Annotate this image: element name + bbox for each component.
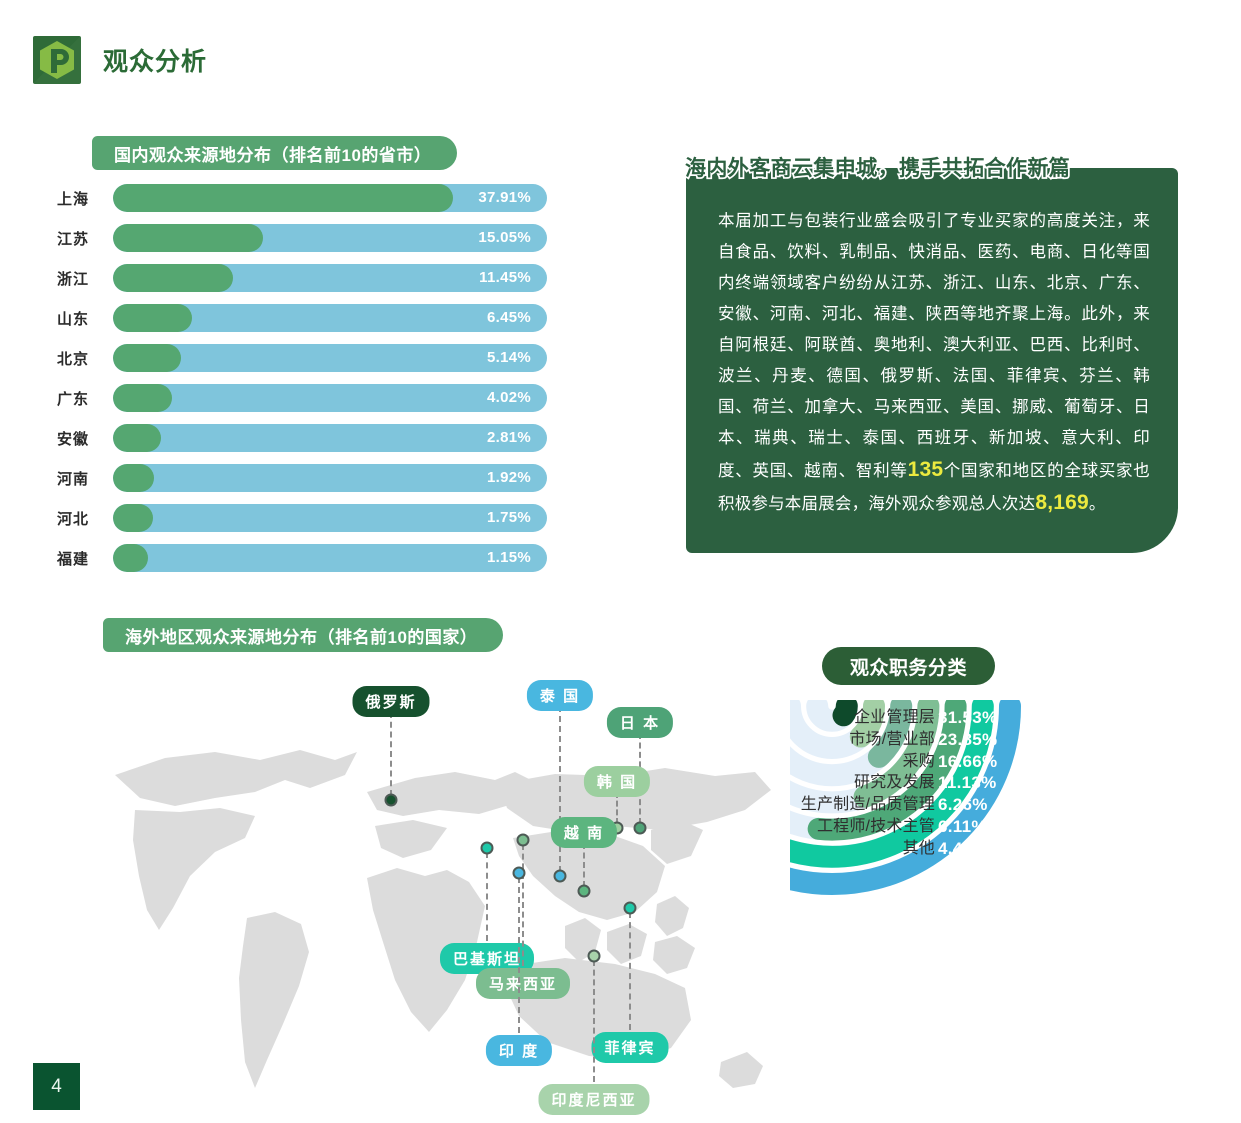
- bar-row-label: 浙江: [57, 268, 113, 289]
- bar-track: 4.02%: [113, 384, 547, 412]
- map-country-label[interactable]: 马来西亚: [476, 968, 570, 999]
- highlight-visitors: 8,169: [1035, 491, 1089, 514]
- jobs-section-header: 观众职务分类: [822, 647, 995, 685]
- map-marker-dot[interactable]: [554, 870, 567, 883]
- bar-track: 2.81%: [113, 424, 547, 452]
- jobs-item-value: 16.66%: [938, 751, 997, 773]
- jobs-item-label: 研究及发展: [760, 772, 935, 794]
- bar-fill: [113, 224, 263, 252]
- world-map: 俄罗斯泰 国日 本韩 国越 南巴基斯坦马来西亚印 度菲律宾印度尼西亚: [95, 680, 795, 1110]
- overseas-section-title: 海外地区观众来源地分布（排名前10的国家）: [103, 618, 503, 652]
- bar-fill: [113, 504, 153, 532]
- infographic-page: 观众分析 国内观众来源地分布（排名前10的省市） 上海37.91%江苏15.05…: [0, 0, 1241, 1123]
- bar-fill: [113, 424, 161, 452]
- world-map-shape: [95, 680, 795, 1110]
- bar-row: 河北1.75%: [57, 504, 547, 532]
- jobs-item-value: 6.11%: [938, 816, 997, 838]
- p-hexagon-logo-icon: [33, 36, 81, 84]
- summary-card: 海内外客商云集申城，携手共拓合作新篇 本届加工与包装行业盛会吸引了专业买家的高度…: [686, 168, 1178, 553]
- bar-fill: [113, 384, 172, 412]
- map-leader-line: [522, 844, 524, 966]
- bar-row: 山东6.45%: [57, 304, 547, 332]
- map-marker-dot[interactable]: [578, 885, 591, 898]
- map-marker-dot[interactable]: [624, 902, 637, 915]
- bar-value: 5.14%: [487, 344, 531, 372]
- map-leader-line: [486, 852, 488, 941]
- bar-track: 37.91%: [113, 184, 547, 212]
- jobs-item-value: 11.13%: [938, 772, 997, 794]
- map-marker-dot[interactable]: [517, 834, 530, 847]
- map-marker-dot[interactable]: [588, 950, 601, 963]
- summary-text-1: 本届加工与包装行业盛会吸引了专业买家的高度关注，来自食品、饮料、乳制品、快消品、…: [718, 212, 1150, 480]
- bar-track: 15.05%: [113, 224, 547, 252]
- jobs-item-label: 工程师/技术主管: [760, 816, 935, 838]
- page-header: 观众分析: [33, 36, 207, 84]
- jobs-item-value: 23.85%: [938, 729, 997, 751]
- bar-row: 安徽2.81%: [57, 424, 547, 452]
- bar-row: 上海37.91%: [57, 184, 547, 212]
- overseas-section-header: 海外地区观众来源地分布（排名前10的国家）: [103, 618, 503, 652]
- map-country-label[interactable]: 印度尼西亚: [538, 1084, 649, 1115]
- map-leader-line: [518, 877, 520, 1033]
- bar-row: 北京5.14%: [57, 344, 547, 372]
- bar-value: 2.81%: [487, 424, 531, 452]
- bar-row-label: 北京: [57, 348, 113, 369]
- map-leader-line: [390, 712, 392, 796]
- bar-track: 1.15%: [113, 544, 547, 572]
- map-country-label[interactable]: 泰 国: [527, 680, 593, 711]
- bar-row: 江苏15.05%: [57, 224, 547, 252]
- jobs-item-value: 31.53%: [938, 707, 997, 729]
- summary-card-body: 本届加工与包装行业盛会吸引了专业买家的高度关注，来自食品、饮料、乳制品、快消品、…: [718, 206, 1150, 520]
- domestic-bar-chart: 上海37.91%江苏15.05%浙江11.45%山东6.45%北京5.14%广东…: [57, 184, 547, 584]
- bar-fill: [113, 304, 192, 332]
- bar-row-label: 安徽: [57, 428, 113, 449]
- bar-row-label: 福建: [57, 548, 113, 569]
- map-marker-dot[interactable]: [481, 842, 494, 855]
- bar-fill: [113, 264, 233, 292]
- page-number: 4: [33, 1063, 80, 1110]
- bar-value: 15.05%: [478, 224, 531, 252]
- jobs-label-column: 企业管理层市场/营业部采购研究及发展生产制造/品质管理工程师/技术主管其他: [760, 707, 935, 860]
- domestic-section-header: 国内观众来源地分布（排名前10的省市）: [92, 136, 457, 170]
- map-country-label[interactable]: 菲律宾: [591, 1032, 668, 1063]
- bar-row: 福建1.15%: [57, 544, 547, 572]
- bar-row-label: 河北: [57, 508, 113, 529]
- map-country-label[interactable]: 韩 国: [584, 766, 650, 797]
- bar-value: 11.45%: [479, 264, 531, 292]
- bar-fill: [113, 344, 181, 372]
- bar-fill: [113, 544, 148, 572]
- bar-value: 1.92%: [487, 464, 531, 492]
- bar-track: 6.45%: [113, 304, 547, 332]
- bar-value: 1.75%: [487, 504, 531, 532]
- bar-track: 5.14%: [113, 344, 547, 372]
- map-marker-dot[interactable]: [513, 867, 526, 880]
- bar-track: 1.75%: [113, 504, 547, 532]
- map-country-label[interactable]: 越 南: [551, 817, 617, 848]
- jobs-item-value: 4.46%: [938, 838, 997, 860]
- bar-value: 6.45%: [487, 304, 531, 332]
- jobs-item-label: 生产制造/品质管理: [760, 794, 935, 816]
- bar-track: 11.45%: [113, 264, 547, 292]
- bar-row: 广东4.02%: [57, 384, 547, 412]
- map-marker-dot[interactable]: [385, 794, 398, 807]
- map-leader-line: [583, 843, 585, 887]
- map-leader-line: [593, 960, 595, 1082]
- bar-fill: [113, 464, 154, 492]
- map-marker-dot[interactable]: [634, 822, 647, 835]
- bar-track: 1.92%: [113, 464, 547, 492]
- bar-value: 1.15%: [487, 544, 531, 572]
- jobs-item-value: 6.26%: [938, 794, 997, 816]
- bar-value: 37.91%: [478, 184, 531, 212]
- jobs-section-title: 观众职务分类: [822, 647, 995, 685]
- bar-fill: [113, 184, 453, 212]
- jobs-item-label: 其他: [760, 838, 935, 860]
- map-country-label[interactable]: 印 度: [486, 1035, 552, 1066]
- map-country-label[interactable]: 俄罗斯: [352, 686, 429, 717]
- page-title: 观众分析: [103, 42, 207, 78]
- bar-row-label: 广东: [57, 388, 113, 409]
- bar-row-label: 河南: [57, 468, 113, 489]
- bar-row-label: 山东: [57, 308, 113, 329]
- bar-row-label: 江苏: [57, 228, 113, 249]
- bar-value: 4.02%: [487, 384, 531, 412]
- bar-row: 浙江11.45%: [57, 264, 547, 292]
- map-leader-line: [629, 912, 631, 1030]
- map-country-label[interactable]: 日 本: [607, 707, 673, 738]
- domestic-section-title: 国内观众来源地分布（排名前10的省市）: [92, 136, 457, 170]
- summary-card-title: 海内外客商云集申城，携手共拓合作新篇: [685, 152, 1181, 182]
- jobs-item-label: 企业管理层: [760, 707, 935, 729]
- jobs-item-label: 采购: [760, 751, 935, 773]
- jobs-value-column: 31.53%23.85%16.66%11.13%6.26%6.11%4.46%: [938, 707, 997, 860]
- highlight-countries: 135: [908, 458, 944, 481]
- bar-row: 河南1.92%: [57, 464, 547, 492]
- bar-row-label: 上海: [57, 188, 113, 209]
- summary-text-3: 。: [1089, 495, 1106, 513]
- jobs-item-label: 市场/营业部: [760, 729, 935, 751]
